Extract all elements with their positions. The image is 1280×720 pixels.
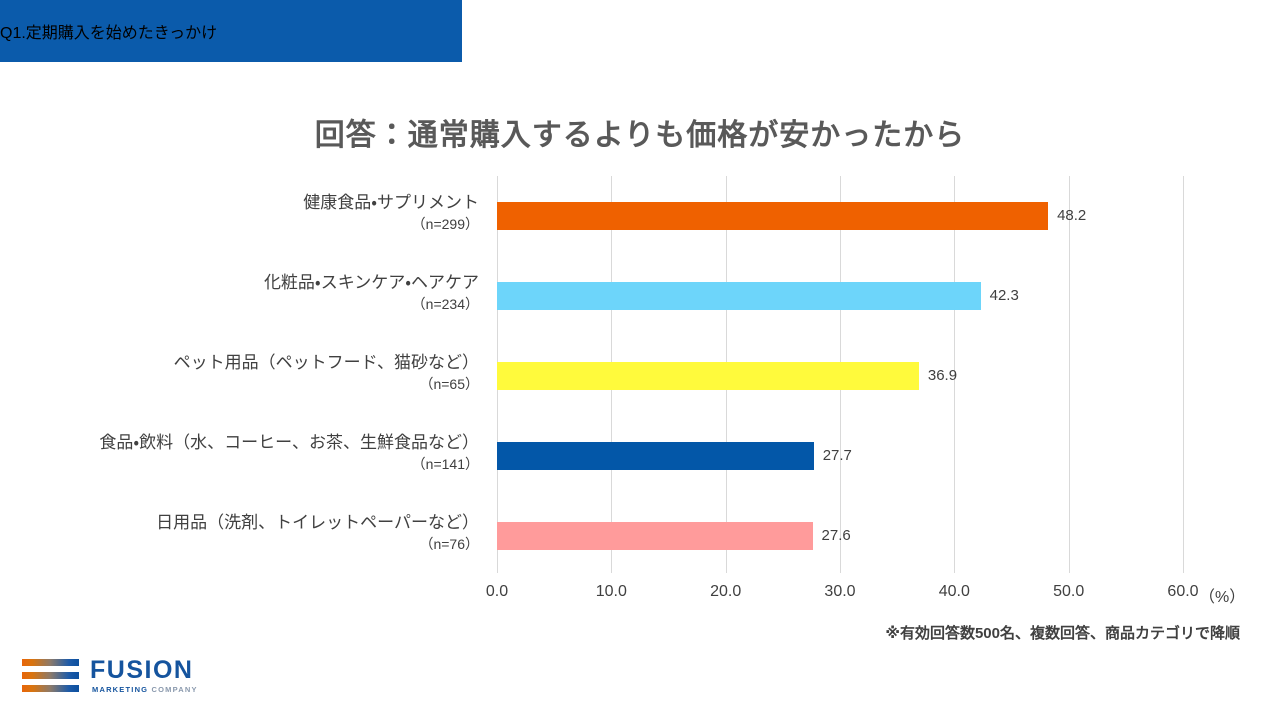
category-sample-size: （n=141） — [27, 454, 479, 474]
footnote: ※有効回答数500名、複数回答、商品カテゴリで降順 — [885, 622, 1240, 643]
bar — [497, 442, 814, 470]
logo-tagline-light: COMPANY — [152, 685, 198, 694]
x-axis-unit-label: （%） — [1199, 583, 1245, 607]
category-label: 健康食品・サプリメント（n=299） — [27, 192, 497, 234]
bar-row: 48.2 — [497, 176, 1277, 256]
x-axis-tick-label: 60.0 — [1167, 583, 1198, 601]
bar-value-label: 36.9 — [919, 362, 957, 390]
logo-tagline: MARKETING COMPANY — [92, 685, 198, 694]
category-label: 日用品（洗剤、トイレットペーパーなど）（n=76） — [27, 512, 497, 554]
category-label: ペット用品（ペットフード、猫砂など）（n=65） — [27, 352, 497, 394]
category-sample-size: （n=65） — [27, 374, 479, 394]
bar-row: 42.3 — [497, 256, 1277, 336]
bar-row: 27.6 — [497, 496, 1277, 576]
x-axis-tick-label: 40.0 — [939, 583, 970, 601]
category-name: 健康食品・サプリメント — [27, 192, 479, 214]
category-name: 食品・飲料（水、コーヒー、お茶、生鮮食品など） — [27, 432, 479, 454]
x-axis-tick-label: 0.0 — [486, 583, 508, 601]
category-name: 日用品（洗剤、トイレットペーパーなど） — [27, 512, 479, 534]
x-axis-tick-label: 30.0 — [824, 583, 855, 601]
bar — [497, 522, 813, 550]
category-sample-size: （n=299） — [27, 214, 479, 234]
category-name: 化粧品・スキンケア・ヘアケア — [27, 272, 479, 294]
fusion-logo: FUSION MARKETING COMPANY — [22, 657, 192, 699]
category-sample-size: （n=76） — [27, 534, 479, 554]
bar-row: 36.9 — [497, 336, 1277, 416]
bar-value-label: 27.7 — [814, 442, 852, 470]
header-banner-title: Q1.定期購入を始めたきっかけ — [0, 19, 217, 43]
logo-stripe-icon — [22, 659, 79, 666]
logo-stripe-icon — [22, 672, 79, 679]
bar — [497, 362, 919, 390]
category-label: 食品・飲料（水、コーヒー、お茶、生鮮食品など）（n=141） — [27, 432, 497, 474]
page-title: 回答：通常購入するよりも価格が安かったから — [0, 110, 1280, 154]
category-name: ペット用品（ペットフード、猫砂など） — [27, 352, 479, 374]
logo-wordmark: FUSION — [90, 657, 193, 683]
logo-tagline-strong: MARKETING — [92, 685, 148, 694]
bar-value-label: 42.3 — [981, 282, 1019, 310]
bar-value-label: 27.6 — [813, 522, 851, 550]
bar-row: 27.7 — [497, 416, 1277, 496]
category-sample-size: （n=234） — [27, 294, 479, 314]
x-axis-tick-label: 10.0 — [596, 583, 627, 601]
bar-value-label: 48.2 — [1048, 202, 1086, 230]
logo-stripe-icon — [22, 685, 79, 692]
category-label: 化粧品・スキンケア・ヘアケア（n=234） — [27, 272, 497, 314]
header-banner: Q1.定期購入を始めたきっかけ — [0, 0, 462, 62]
x-axis-tick-label: 50.0 — [1053, 583, 1084, 601]
bar — [497, 202, 1048, 230]
x-axis-tick-label: 20.0 — [710, 583, 741, 601]
bar — [497, 282, 981, 310]
